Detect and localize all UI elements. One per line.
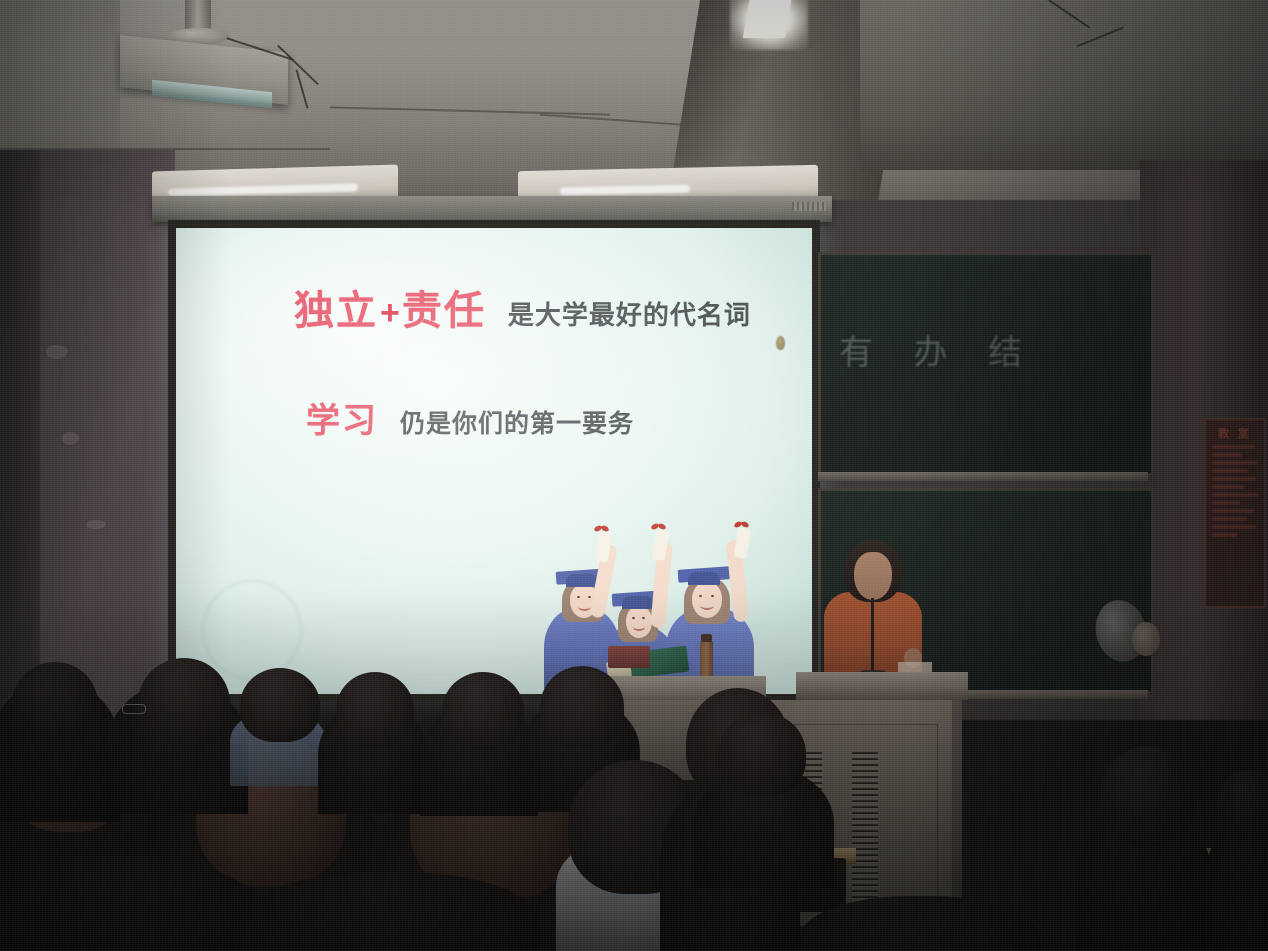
poster-rule-line	[1212, 469, 1248, 473]
graduate-eye	[699, 595, 702, 597]
slide-line2-highlight: 学习	[306, 393, 378, 442]
thermos-cap	[701, 634, 712, 642]
audience-head	[240, 668, 320, 742]
graduate-cap-crown	[622, 596, 654, 609]
poster-rule-line	[1212, 533, 1237, 537]
poster-rule-line	[1212, 445, 1255, 449]
diploma-ribbon	[596, 526, 609, 534]
audience-head	[1216, 770, 1268, 840]
graduate-eye	[632, 617, 635, 619]
chalk-rail	[818, 472, 1148, 481]
eyeglasses	[122, 704, 146, 714]
chalk-writing: 有 办 结	[839, 325, 1038, 374]
slide-line2-body: 仍是你们的第一要务	[400, 404, 634, 440]
screen-smudge	[776, 336, 785, 350]
projector-screen-housing[interactable]	[152, 196, 832, 222]
audience-head	[1100, 746, 1196, 846]
graduate-cap-crown	[688, 572, 720, 585]
audience	[0, 660, 1268, 951]
audience-head	[718, 712, 806, 796]
diploma-ribbon	[736, 522, 749, 530]
poster-rule-line	[1212, 461, 1257, 465]
audience-head	[336, 672, 414, 748]
poster-rule-line	[1212, 453, 1242, 457]
graduate-eye	[577, 596, 580, 598]
fluorescent-lamp-tube	[743, 0, 793, 38]
slide-line1-body: 是大学最好的代名词	[508, 295, 751, 332]
speaker	[818, 540, 928, 680]
audience-head	[442, 672, 524, 750]
poster-rule-line	[1212, 485, 1244, 489]
slide-line1-highlight2: 责任	[402, 278, 486, 336]
ceiling-right-section	[860, 0, 1268, 170]
poster-rule-line	[1212, 477, 1256, 481]
graduate-face	[626, 606, 652, 638]
graduate-smile	[578, 602, 591, 611]
blackboard-upper: 有 办 结	[818, 252, 1154, 476]
diploma	[734, 527, 752, 559]
slide-line1-highlight: 独立	[294, 278, 378, 336]
poster-rule-line	[1212, 517, 1247, 521]
graduate-smile	[700, 601, 714, 610]
speaker-face	[854, 552, 892, 600]
graduate-eye	[588, 596, 591, 598]
poster-title: 教 室	[1210, 425, 1260, 441]
projection-screen: 独立 + 责任 是大学最好的代名词 学习 仍是你们的第一要务	[176, 228, 812, 694]
graduate-eye	[642, 617, 645, 619]
graduate-smile	[633, 623, 645, 631]
classroom-rules-poster: 教 室	[1204, 418, 1266, 608]
graduate-eye	[711, 595, 714, 597]
poster-rule-line	[1212, 501, 1240, 505]
slide-line1-plus: +	[380, 294, 400, 333]
audience-head	[138, 658, 230, 748]
ceiling-panel	[0, 0, 120, 150]
fan-motor-hub	[1132, 622, 1160, 656]
graduate-cap-crown	[566, 574, 598, 587]
audience-head	[12, 662, 98, 746]
audience-member	[800, 896, 1040, 951]
graduate-face	[692, 582, 722, 618]
lecture-hall-photo: 独立 + 责任 是大学最好的代名词 学习 仍是你们的第一要务	[0, 0, 1268, 951]
audience-head	[540, 666, 624, 748]
poster-rule-line	[1212, 509, 1254, 513]
slide-line-2: 学习 仍是你们的第一要务	[306, 393, 634, 442]
poster-rule-line	[1212, 493, 1258, 497]
slide-line-1: 独立 + 责任 是大学最好的代名词	[294, 278, 751, 336]
diploma-ribbon	[653, 524, 666, 532]
poster-rule-line	[1212, 525, 1256, 529]
housing-vent	[792, 202, 826, 211]
